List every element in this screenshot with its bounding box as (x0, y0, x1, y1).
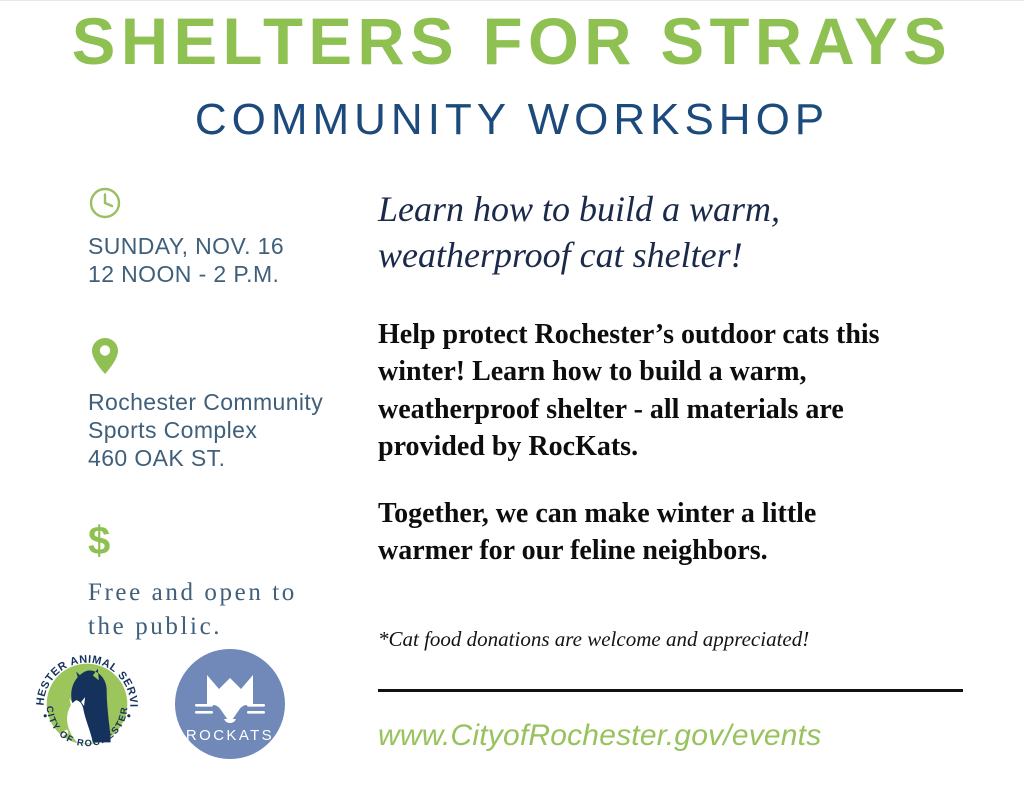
event-details-column: SUNDAY, NOV. 16 12 NOON - 2 P.M. Rochest… (88, 186, 356, 669)
lede-line-2: weatherproof cat shelter! (378, 232, 968, 278)
donation-footnote: *Cat food donations are welcome and appr… (378, 626, 968, 653)
rochester-animal-services-logo: ROCHESTER ANIMAL SERVICES CITY OF ROCHES… (28, 645, 146, 763)
map-pin-icon (88, 336, 356, 370)
para1-line-1: Help protect Rochester’s outdoor cats th… (378, 316, 968, 353)
lede-line-1: Learn how to build a warm, (378, 186, 968, 232)
horizontal-rule (378, 689, 963, 692)
body-paragraph-1: Help protect Rochester’s outdoor cats th… (378, 316, 968, 465)
rockats-logo: ROCKATS (175, 649, 285, 759)
detail-time: SUNDAY, NOV. 16 12 NOON - 2 P.M. (88, 186, 356, 288)
detail-time-text: SUNDAY, NOV. 16 12 NOON - 2 P.M. (88, 232, 356, 288)
time-line-2: 12 NOON - 2 P.M. (88, 260, 356, 288)
location-line-1: Rochester Community (88, 388, 356, 416)
detail-location-text: Rochester Community Sports Complex 460 O… (88, 388, 356, 472)
location-line-3: 460 OAK ST. (88, 444, 356, 472)
detail-location: Rochester Community Sports Complex 460 O… (88, 336, 356, 472)
time-line-1: SUNDAY, NOV. 16 (88, 232, 356, 260)
rockats-wordmark: ROCKATS (186, 727, 274, 744)
para1-line-3: weatherproof shelter - all materials are (378, 391, 968, 428)
lede-heading: Learn how to build a warm, weatherproof … (378, 186, 968, 278)
event-url-link[interactable]: www.CityofRochester.gov/events (378, 718, 968, 754)
detail-cost-text: Free and open to the public. (88, 576, 356, 643)
logo-row: ROCHESTER ANIMAL SERVICES CITY OF ROCHES… (20, 645, 310, 765)
body-paragraph-2: Together, we can make winter a little wa… (378, 495, 968, 569)
para1-line-4: provided by RocKats. (378, 428, 968, 465)
para2-line-1: Together, we can make winter a little (378, 495, 968, 532)
page-subtitle: COMMUNITY WORKSHOP (0, 97, 1024, 143)
location-line-2: Sports Complex (88, 416, 356, 444)
cost-line-1: Free and open to (88, 576, 356, 610)
top-edge-hairline (0, 0, 1024, 1)
para1-line-2: winter! Learn how to build a warm, (378, 353, 968, 390)
main-content-column: Learn how to build a warm, weatherproof … (378, 186, 968, 754)
detail-cost: $ Free and open to the public. (88, 524, 356, 643)
flyer-canvas: SHELTERS FOR STRAYS COMMUNITY WORKSHOP S… (0, 0, 1024, 786)
header-block: SHELTERS FOR STRAYS COMMUNITY WORKSHOP (0, 8, 1024, 144)
page-title: SHELTERS FOR STRAYS (5, 8, 1019, 75)
dollar-sign-icon: $ (88, 524, 356, 558)
para2-line-2: warmer for our feline neighbors. (378, 532, 968, 569)
clock-icon (88, 186, 356, 220)
cost-line-2: the public. (88, 610, 356, 644)
